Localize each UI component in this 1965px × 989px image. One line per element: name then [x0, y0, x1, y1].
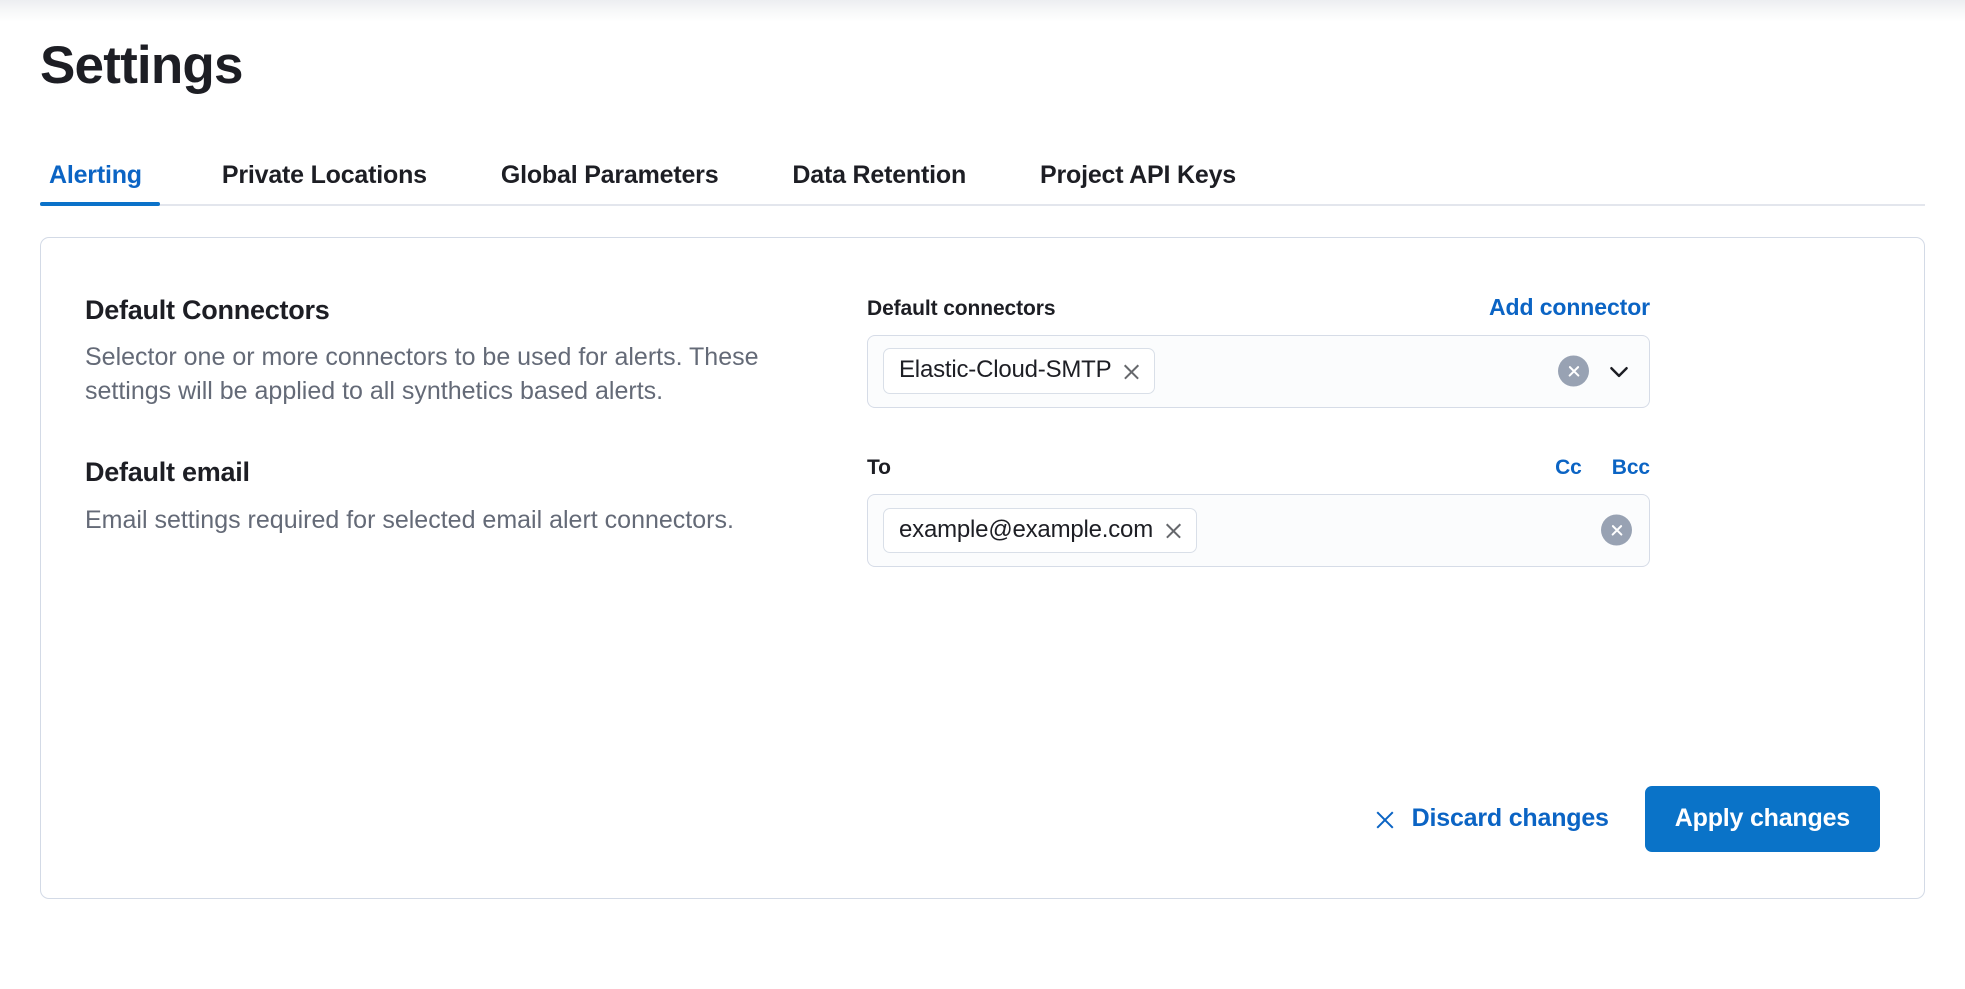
default-connectors-title: Default Connectors: [85, 294, 807, 328]
cc-link[interactable]: Cc: [1555, 456, 1582, 480]
tab-data-retention[interactable]: Data Retention: [774, 161, 984, 204]
settings-page: Settings Alerting Private Locations Glob…: [0, 0, 1965, 899]
tab-alerting[interactable]: Alerting: [40, 161, 160, 204]
chevron-down-icon[interactable]: [1606, 358, 1632, 384]
default-email-description-block: Default email Email settings required fo…: [85, 456, 867, 537]
default-connectors-field-group: Default connectors Add connector Elastic…: [867, 294, 1650, 408]
tab-global-parameters[interactable]: Global Parameters: [483, 161, 737, 204]
default-connectors-field-header: Default connectors Add connector: [867, 294, 1650, 321]
to-field-header: To Cc Bcc: [867, 456, 1650, 480]
to-combobox-tools: [1601, 515, 1632, 546]
default-email-field-group: To Cc Bcc example@example.com: [867, 456, 1650, 567]
close-x-icon: [1374, 808, 1396, 830]
discard-changes-button[interactable]: Discard changes: [1364, 798, 1619, 839]
default-connectors-combobox[interactable]: Elastic-Cloud-SMTP: [867, 335, 1650, 408]
settings-tabbar: Alerting Private Locations Global Parame…: [40, 149, 1925, 206]
bcc-link[interactable]: Bcc: [1612, 456, 1650, 480]
clear-connectors-icon[interactable]: [1558, 356, 1589, 387]
email-field-actions: Cc Bcc: [1555, 456, 1650, 480]
recipient-pill-label: example@example.com: [899, 517, 1153, 543]
tab-project-api-keys[interactable]: Project API Keys: [1022, 161, 1254, 204]
connector-pill[interactable]: Elastic-Cloud-SMTP: [883, 348, 1155, 393]
panel-footer-actions: Discard changes Apply changes: [1364, 786, 1880, 852]
default-connectors-section: Default Connectors Selector one or more …: [85, 294, 1880, 408]
tab-private-locations[interactable]: Private Locations: [204, 161, 445, 204]
apply-changes-button[interactable]: Apply changes: [1645, 786, 1880, 852]
discard-changes-label: Discard changes: [1412, 804, 1609, 833]
default-connectors-label: Default connectors: [867, 297, 1055, 321]
to-label: To: [867, 456, 891, 480]
recipient-pill[interactable]: example@example.com: [883, 508, 1197, 553]
to-recipients-combobox[interactable]: example@example.com: [867, 494, 1650, 567]
default-email-section: Default email Email settings required fo…: [85, 456, 1880, 567]
clear-recipients-icon[interactable]: [1601, 515, 1632, 546]
add-connector-link[interactable]: Add connector: [1489, 294, 1650, 321]
page-title: Settings: [40, 0, 1925, 94]
remove-connector-icon[interactable]: [1122, 361, 1141, 380]
default-connectors-description: Selector one or more connectors to be us…: [85, 341, 807, 408]
default-email-description: Email settings required for selected ema…: [85, 504, 807, 537]
connector-pill-label: Elastic-Cloud-SMTP: [899, 357, 1111, 383]
combobox-tools: [1558, 356, 1632, 387]
alerting-settings-panel: Default Connectors Selector one or more …: [40, 237, 1925, 899]
default-connectors-description-block: Default Connectors Selector one or more …: [85, 294, 867, 408]
default-email-title: Default email: [85, 456, 807, 490]
remove-recipient-icon[interactable]: [1164, 520, 1183, 539]
